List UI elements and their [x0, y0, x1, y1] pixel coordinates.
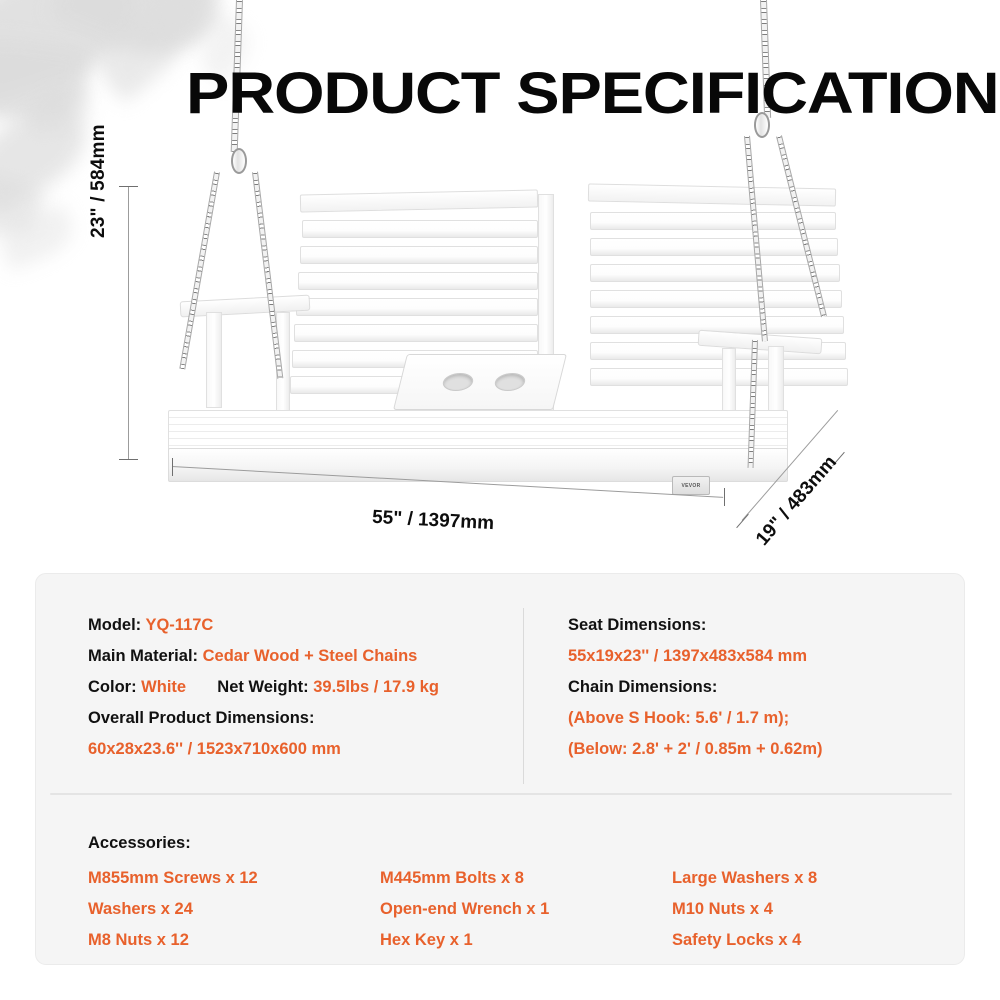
- overall-label: Overall Product Dimensions:: [88, 709, 314, 727]
- accessory-item: Washers x 24: [88, 894, 380, 925]
- backrest-slat: [590, 238, 838, 256]
- backrest-slat: [590, 368, 848, 386]
- backrest-slat: [590, 264, 840, 282]
- model-label: Model:: [88, 616, 141, 634]
- spec-column-left: Model: YQ-117C Main Material: Cedar Wood…: [36, 574, 522, 792]
- material-value: Cedar Wood + Steel Chains: [203, 647, 418, 665]
- accessory-item: Open-end Wrench x 1: [380, 894, 672, 925]
- spec-row-color-weight: Color: White Net Weight: 39.5lbs / 17.9 …: [88, 672, 522, 703]
- spec-row-material: Main Material: Cedar Wood + Steel Chains: [88, 641, 522, 672]
- accessory-item: M855mm Screws x 12: [88, 863, 380, 894]
- armrest-left: [180, 295, 311, 318]
- spec-row-overall-label: Overall Product Dimensions:: [88, 703, 522, 734]
- spec-column-right: Seat Dimensions: 55x19x23'' / 1397x483x5…: [522, 574, 964, 792]
- accessory-item: M8 Nuts x 12: [88, 925, 380, 956]
- color-label: Color:: [88, 678, 137, 696]
- backrest-slat: [298, 272, 538, 290]
- height-tick-bottom: [119, 459, 138, 460]
- center-console-tray: [400, 354, 560, 410]
- overall-value: 60x28x23.6'' / 1523x710x600 mm: [88, 734, 522, 765]
- spec-row-chain-label: Chain Dimensions:: [568, 672, 964, 703]
- accessory-item: Large Washers x 8: [672, 863, 964, 894]
- model-value: YQ-117C: [145, 616, 213, 634]
- backrest-slat: [294, 324, 538, 342]
- spec-row-model: Model: YQ-117C: [88, 610, 522, 641]
- material-label: Main Material:: [88, 647, 198, 665]
- backrest-slat: [300, 246, 538, 264]
- brand-label-plate: VEVOR: [672, 476, 710, 495]
- chain-value-below: (Below: 2.8' + 2' / 0.85m + 0.62m): [568, 734, 964, 765]
- accessory-item: Hex Key x 1: [380, 925, 672, 956]
- width-tick-right: [724, 488, 725, 506]
- height-dimension-label: 23" / 584mm: [88, 124, 110, 238]
- console-surface: [393, 354, 567, 410]
- accessory-item: M445mm Bolts x 8: [380, 863, 672, 894]
- height-tick-top: [119, 186, 138, 187]
- spec-row-seat-label: Seat Dimensions:: [568, 610, 964, 641]
- product-specification-page: PRODUCT SPECIFICATION: [0, 0, 1000, 1000]
- seat-value: 55x19x23'' / 1397x483x584 mm: [568, 641, 964, 672]
- accessories-section: Accessories: M855mm Screws x 12 Washers …: [36, 795, 964, 964]
- accessories-column: Large Washers x 8 M10 Nuts x 4 Safety Lo…: [672, 863, 964, 956]
- page-title: PRODUCT SPECIFICATION: [186, 62, 999, 126]
- weight-value: 39.5lbs / 17.9 kg: [313, 678, 439, 696]
- width-tick-left: [172, 458, 173, 476]
- weight-label: Net Weight:: [217, 678, 308, 696]
- spec-columns: Model: YQ-117C Main Material: Cedar Wood…: [36, 574, 964, 792]
- panel-horizontal-divider: [50, 793, 952, 795]
- cup-holder-right-icon: [493, 373, 527, 391]
- backrest-slat: [296, 298, 538, 316]
- armrest-left-post: [206, 312, 222, 408]
- chain-label: Chain Dimensions:: [568, 678, 717, 696]
- chain-value-above: (Above S Hook: 5.6' / 1.7 m);: [568, 703, 964, 734]
- color-value: White: [141, 678, 186, 696]
- s-hook-left-icon: [231, 148, 247, 174]
- seat-label: Seat Dimensions:: [568, 616, 706, 634]
- cup-holder-left-icon: [441, 373, 475, 391]
- height-dimension-line: [128, 186, 129, 459]
- accessories-column: M445mm Bolts x 8 Open-end Wrench x 1 Hex…: [380, 863, 672, 956]
- accessories-columns: M855mm Screws x 12 Washers x 24 M8 Nuts …: [88, 863, 964, 956]
- accessory-item: M10 Nuts x 4: [672, 894, 964, 925]
- accessories-column: M855mm Screws x 12 Washers x 24 M8 Nuts …: [88, 863, 380, 956]
- accessory-item: Safety Locks x 4: [672, 925, 964, 956]
- backrest-slat: [302, 220, 538, 238]
- specification-panel: Model: YQ-117C Main Material: Cedar Wood…: [35, 573, 965, 965]
- accessories-title: Accessories:: [88, 828, 964, 859]
- panel-vertical-divider: [523, 608, 524, 784]
- backrest-slat: [590, 290, 842, 308]
- brand-label-text: VEVOR: [681, 483, 700, 489]
